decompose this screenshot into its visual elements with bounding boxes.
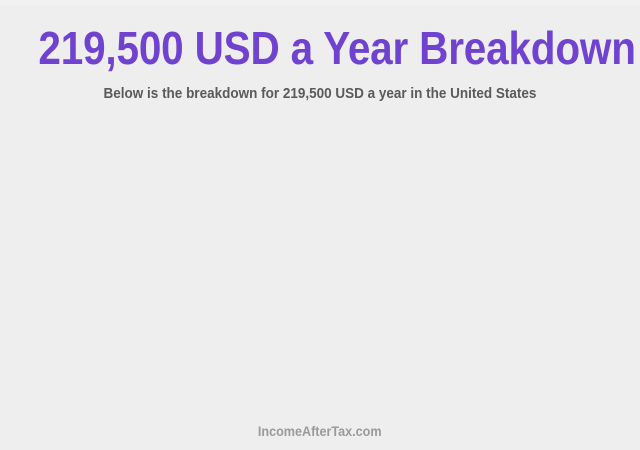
page-subtitle: Below is the breakdown for 219,500 USD a… — [32, 84, 608, 104]
top-edge-band — [0, 0, 640, 5]
content-area — [0, 112, 640, 412]
footer-brand-label: IncomeAfterTax.com — [258, 422, 382, 440]
breakdown-page: 219,500 USD a Year Breakdown Below is th… — [0, 0, 640, 450]
page-title: 219,500 USD a Year Breakdown — [38, 22, 601, 74]
site-footer: IncomeAfterTax.com — [0, 422, 640, 441]
